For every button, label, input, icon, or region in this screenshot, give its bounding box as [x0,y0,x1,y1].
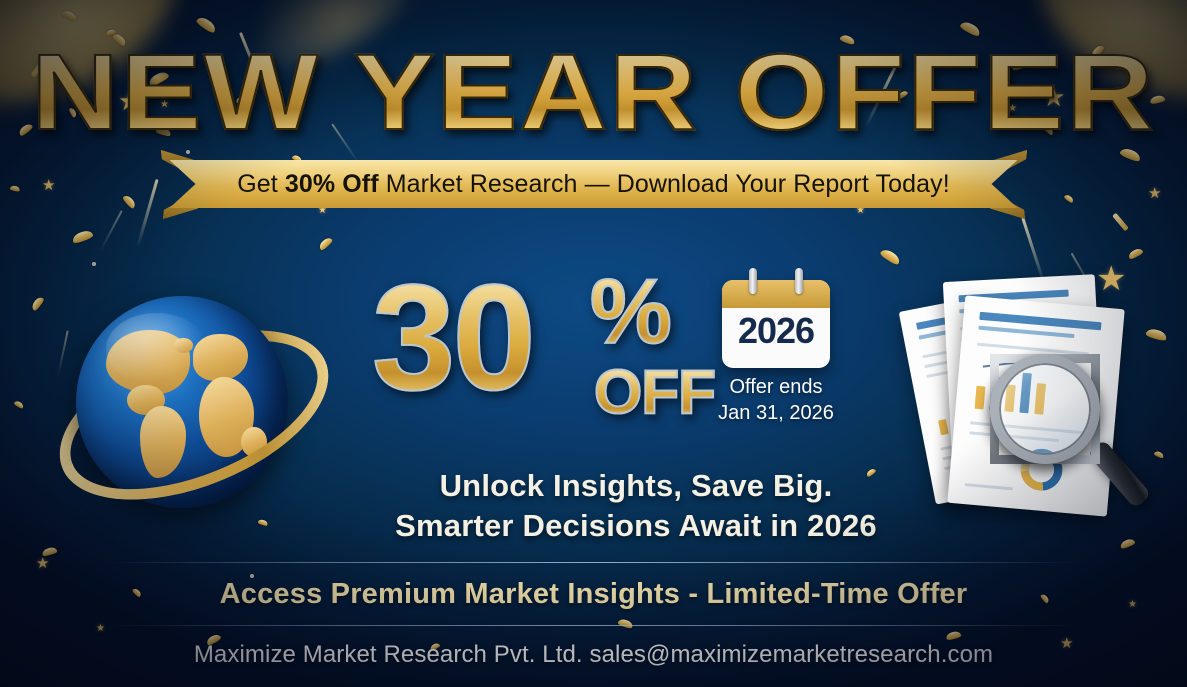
ribbon-lead: Get [237,170,285,198]
cta-text: Access Premium Market Insights - Limited… [0,578,1187,611]
ribbon-text: Get 30% Off Market Research — Download Y… [237,170,950,199]
offer-ribbon: Get 30% Off Market Research — Download Y… [170,160,1018,208]
tagline: Unlock Insights, Save Big. Smarter Decis… [330,466,942,546]
globe-highlight [106,313,208,385]
discount-display: 30 % OFF [372,262,702,432]
documents-stack-icon [912,258,1174,530]
tagline-line-2: Smarter Decisions Await in 2026 [330,506,942,546]
calendar-body: 2026 [722,280,830,368]
offer-ends-label: Offer ends [700,375,852,401]
calendar-year: 2026 [722,310,830,352]
calendar-icon: 2026 [722,268,830,368]
footer-contact: Maximize Market Research Pvt. Ltd. sales… [0,641,1187,669]
discount-off-label: OFF [594,362,715,424]
page-title: NEW YEAR OFFER [0,38,1187,146]
calendar-ring-right [795,268,803,294]
magnifier-rim [990,354,1100,464]
magnifying-glass-icon [990,354,1100,464]
new-year-offer-banner: NEW YEAR OFFER Get 30% Off Market Resear… [0,0,1187,687]
tagline-line-1: Unlock Insights, Save Big. [330,466,942,506]
calendar-header-band [722,280,830,308]
ribbon-highlight: 30% Off [285,170,379,198]
ribbon-body: Get 30% Off Market Research — Download Y… [170,160,1018,208]
divider-top [108,562,1080,563]
percent-symbol: % [590,266,672,358]
ribbon-rest: Market Research — Download Your Report T… [379,170,950,198]
discount-number: 30 [372,262,533,412]
divider-bottom [108,625,1080,626]
offer-end-date: Jan 31, 2026 [700,401,852,427]
calendar-ring-left [749,268,757,294]
offer-end-caption: Offer ends Jan 31, 2026 [700,375,852,426]
globe-icon [58,282,306,530]
